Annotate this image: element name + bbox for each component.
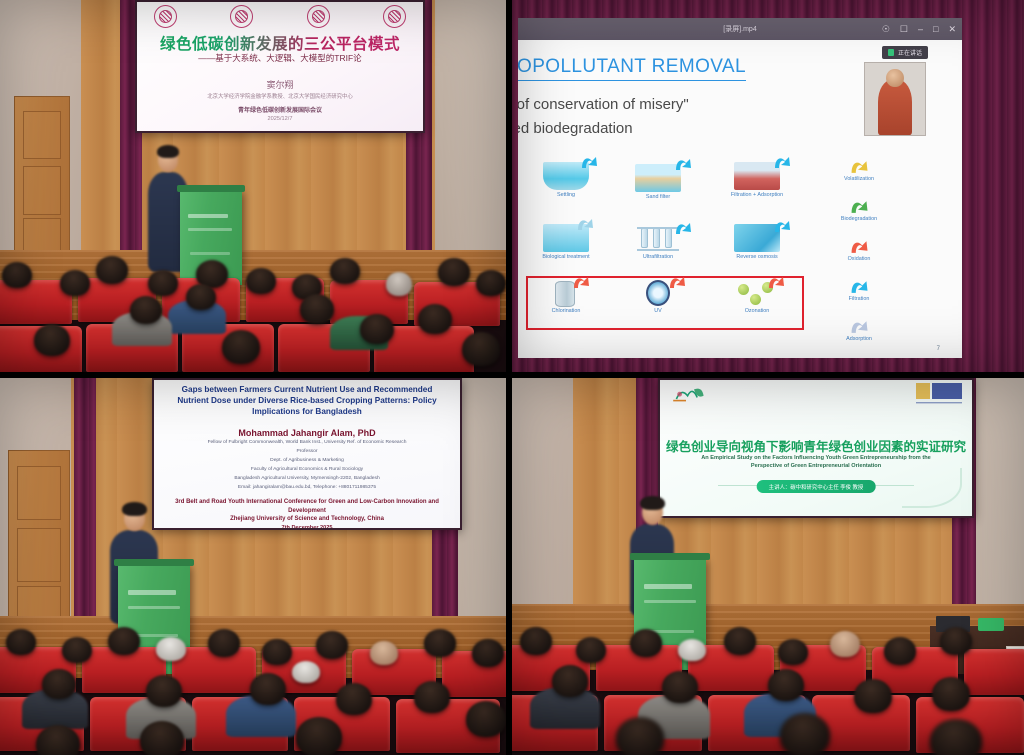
- audience-head: [724, 627, 756, 655]
- process-label: Ultrafiltration: [626, 254, 690, 260]
- slide2-title: ...OPOLLUTANT REMOVAL: [518, 56, 746, 81]
- curtain-left: [74, 378, 96, 649]
- legend-biodegradation: Biodegradation: [830, 198, 888, 222]
- audience-head: [2, 262, 32, 288]
- biodegradation-arrow-icon: [848, 198, 870, 215]
- audience-head: [370, 641, 398, 665]
- audience-head: [222, 330, 260, 364]
- filtration-arrow-icon: [772, 218, 792, 234]
- projection-screen-4: 绿色创业导向视角下影响青年绿色创业因素的实证研究 An Empirical St…: [658, 378, 974, 518]
- slide3-author: Mohammad Jahangir Alam, PhD: [154, 428, 460, 438]
- legend-label: Filtration: [830, 296, 888, 302]
- podium-1-top: [177, 185, 245, 192]
- process-uv: UV: [626, 280, 690, 314]
- reverse-osmosis-icon: [734, 224, 780, 252]
- audience-head: [466, 701, 506, 737]
- process-label: Ozonation: [722, 308, 792, 314]
- institution-seal-icon: [307, 5, 330, 28]
- audience-head: [140, 721, 184, 755]
- audience-head: [630, 629, 662, 657]
- podium-4-text-bar: [644, 600, 696, 603]
- slide1-conference: 青年绿色低碳创新发展国际会议: [137, 105, 423, 114]
- process-label: Sand filter: [626, 194, 690, 200]
- audience-head: [662, 671, 698, 703]
- audience-head: [768, 669, 804, 701]
- sand-filter-icon: [635, 164, 681, 192]
- filtration-arrow-icon: [673, 156, 693, 172]
- oxidation-arrow-icon: [766, 274, 786, 290]
- audience-area-4: [512, 625, 1024, 755]
- process-settling: Settling: [534, 162, 598, 198]
- process-sand-filter: Sand filter: [626, 164, 690, 200]
- oxidation-arrow-icon: [571, 274, 591, 290]
- process-filtration-adsorption: Filtration + Adsorption: [722, 162, 792, 198]
- audience-head: [108, 627, 140, 655]
- legend-filtration: Filtration: [830, 278, 888, 302]
- slide3-date: 7th December 2025: [172, 525, 441, 530]
- podium-1-text-bar: [188, 228, 232, 231]
- audience-head: [780, 713, 830, 755]
- process-label: Filtration + Adsorption: [722, 192, 792, 198]
- audience-head: [96, 256, 128, 284]
- filtration-arrow-icon: [579, 154, 599, 170]
- institution-seal-icon: [154, 5, 177, 28]
- audience-head: [36, 725, 80, 755]
- filtration-arrow-icon: [772, 154, 792, 170]
- ozonation-molecule-icon: [734, 280, 780, 306]
- volatilization-arrow-icon: [848, 158, 870, 175]
- podium-3-text-bar: [128, 606, 180, 609]
- slide1-subtitle: ——基于大系统、大逻辑、大模型的TRIF论: [137, 52, 423, 64]
- slide3-title: Gaps between Farmers Current Nutrient Us…: [166, 384, 448, 417]
- audience-head: [418, 304, 452, 334]
- legend-oxidation: Oxidation: [830, 238, 888, 262]
- audience-head: [830, 631, 860, 657]
- audience-head: [462, 332, 500, 366]
- audience-head: [62, 637, 92, 663]
- panel-bottom-right: 绿色创业导向视角下影响青年绿色创业因素的实证研究 An Empirical St…: [512, 378, 1024, 755]
- slide2-page-number: 7: [937, 346, 940, 352]
- audience-head: [246, 268, 276, 294]
- audience-head: [60, 270, 90, 296]
- process-label: Settling: [534, 192, 598, 198]
- audience-head: [552, 665, 588, 697]
- stage-door-left: [14, 96, 70, 271]
- speaking-label: 正在讲话: [898, 48, 922, 57]
- settling-tank-icon: [543, 162, 589, 190]
- audience-head: [476, 270, 506, 296]
- audience-head: [316, 631, 348, 659]
- audience-head: [778, 639, 808, 665]
- podium-3-logo-bar: [128, 590, 176, 595]
- audience-area-1: [0, 252, 506, 372]
- process-biological-treatment: Biological treatment: [534, 224, 598, 260]
- slide3-role: Bangladesh Agricultural University, Myme…: [172, 476, 441, 481]
- audience-head: [146, 675, 182, 707]
- filtration-adsorption-icon: [734, 162, 780, 190]
- filtration-arrow-icon: [575, 216, 595, 232]
- slide2-line1: ... of conservation of misery": [518, 96, 689, 113]
- legend-label: Biodegradation: [830, 216, 888, 222]
- legend-label: Oxidation: [830, 256, 888, 262]
- biological-treatment-icon: [543, 224, 589, 252]
- podium-4-logo-bar: [644, 584, 692, 589]
- presenter-4-hair: [640, 496, 665, 510]
- slide1-title: 绿色低碳创新发展的三公平台模式: [137, 32, 423, 54]
- panel-top-right: [录屏].mp4 ☉ ☐ – □ ✕ ...OPOLLUTANT REMOVAL…: [512, 0, 1024, 372]
- institution-seal-icon: [383, 5, 406, 28]
- process-label: Reverse osmosis: [722, 254, 792, 260]
- process-ultrafiltration: Ultrafiltration: [626, 224, 690, 260]
- uv-lamp-icon: [635, 280, 681, 306]
- process-label: Biological treatment: [534, 254, 598, 260]
- video-window-title: [录屏].mp4: [723, 24, 756, 34]
- microphone-icon: [888, 49, 894, 56]
- presenter-3-hair: [122, 502, 147, 516]
- panel-bottom-left: Gaps between Farmers Current Nutrient Us…: [0, 378, 506, 755]
- seat: [964, 649, 1024, 695]
- legend-volatilization: Volatilization: [830, 158, 888, 182]
- camera-thumbnail[interactable]: [864, 62, 926, 136]
- audience-head: [616, 717, 664, 755]
- slide3-role: Professor: [172, 449, 441, 454]
- ultrafiltration-icon: [635, 224, 681, 252]
- close-icon[interactable]: ✕: [948, 24, 956, 35]
- slide3-role: Email: jahangiralam@bau.edu.bd, Telephon…: [172, 485, 441, 490]
- audience-area-3: [0, 625, 506, 755]
- window-controls[interactable]: ☉ ☐ – □ ✕: [882, 18, 956, 40]
- pin-icon[interactable]: ☉: [882, 24, 890, 35]
- speaking-indicator-badge: 正在讲话: [882, 46, 928, 59]
- audience-head: [472, 639, 504, 667]
- process-label: UV: [626, 308, 690, 314]
- audience-head: [386, 272, 412, 296]
- slide4-title: 绿色创业导向视角下影响青年绿色创业因素的实证研究: [660, 436, 972, 455]
- photo-collage: 绿色低碳创新发展的三公平台模式 ——基于大系统、大逻辑、大模型的TRIF论 窦尔…: [0, 0, 1024, 755]
- audience-head: [42, 669, 76, 699]
- audience-head: [336, 683, 372, 715]
- audience-head: [148, 270, 178, 296]
- podium-3-top: [114, 559, 193, 566]
- audience-head: [520, 627, 552, 655]
- filtration-arrow-icon: [673, 220, 693, 236]
- audience-head: [414, 681, 450, 713]
- audience-head: [438, 258, 470, 286]
- minimize-icon[interactable]: –: [918, 24, 923, 34]
- picture-in-picture-icon[interactable]: ☐: [900, 24, 908, 35]
- slide3-role: Dept. of Agribusiness & Marketing: [172, 458, 441, 463]
- legend-adsorption: Adsorption: [830, 318, 888, 342]
- audience-head: [156, 637, 186, 661]
- video-window-titlebar[interactable]: [录屏].mp4 ☉ ☐ – □ ✕: [518, 18, 962, 40]
- slide1-seal-row: [154, 5, 406, 29]
- slide1-author: 窦尔翔: [137, 78, 423, 91]
- audience-head: [884, 637, 916, 665]
- chlorination-icon: [543, 280, 589, 306]
- slide3-conference: 3rd Belt and Road Youth International Co…: [169, 498, 444, 515]
- audience-head: [576, 637, 606, 663]
- presenter-1-hair: [157, 145, 179, 158]
- audience-head: [208, 629, 240, 657]
- audience-head: [932, 677, 970, 711]
- projection-screen-1: 绿色低碳创新发展的三公平台模式 ——基于大系统、大逻辑、大模型的TRIF论 窦尔…: [135, 0, 425, 133]
- audience-head: [296, 717, 342, 755]
- process-label: Chlorination: [534, 308, 598, 314]
- leaf-decoration-icon: [902, 468, 962, 508]
- process-ozonation: Ozonation: [722, 280, 792, 314]
- audience-head: [854, 679, 892, 713]
- camera-person-body: [878, 80, 912, 135]
- slide3-role: Faculty of Agricultural Economics & Rura…: [172, 467, 441, 472]
- slide2-line2: ...ed biodegradation: [518, 120, 633, 137]
- slide3-venue: Zhejiang University of Science and Techn…: [172, 516, 441, 522]
- filtration-arrow-icon: [848, 278, 870, 295]
- legend-label: Volatilization: [830, 176, 888, 182]
- audience-head: [130, 296, 162, 324]
- oxidation-arrow-icon: [667, 274, 687, 290]
- slide3-role: Fellow of Fulbright Commonwealth, World …: [172, 440, 441, 445]
- audience-head: [678, 639, 706, 661]
- maximize-icon[interactable]: □: [933, 24, 938, 34]
- audience-head: [250, 673, 286, 705]
- audience-head: [300, 294, 334, 324]
- slide4-presenter-badge: 主讲人：碳中和研究中心主任 李俊 教授: [757, 480, 876, 493]
- panel-top-left: 绿色低碳创新发展的三公平台模式 ——基于大系统、大逻辑、大模型的TRIF论 窦尔…: [0, 0, 506, 372]
- institution-seal-icon: [230, 5, 253, 28]
- slide1-affiliation: 北京大学经济学院金融学系教授、北京大学国民经济研究中心: [137, 92, 423, 100]
- audience-head: [940, 627, 972, 655]
- projection-screen-3: Gaps between Farmers Current Nutrient Us…: [152, 378, 462, 530]
- audience-head: [34, 324, 70, 356]
- audience-head: [360, 314, 394, 344]
- oxidation-arrow-icon: [848, 238, 870, 255]
- legend-label: Adsorption: [830, 336, 888, 342]
- slide1-date: 2025/12/7: [137, 116, 423, 122]
- adsorption-arrow-icon: [848, 318, 870, 335]
- process-chlorination: Chlorination: [534, 280, 598, 314]
- audience-head: [186, 284, 216, 310]
- audience-head: [6, 629, 36, 655]
- audience-head: [930, 719, 982, 755]
- podium-4-top: [630, 553, 709, 560]
- audience-head: [330, 258, 360, 284]
- conference-logo-icon: [670, 384, 718, 406]
- audience-head: [262, 639, 292, 665]
- podium-1-logo-bar: [188, 214, 228, 218]
- university-logo-icon: [916, 383, 962, 405]
- audience-head: [424, 629, 456, 657]
- process-reverse-osmosis: Reverse osmosis: [722, 224, 792, 260]
- audience-head: [292, 661, 320, 683]
